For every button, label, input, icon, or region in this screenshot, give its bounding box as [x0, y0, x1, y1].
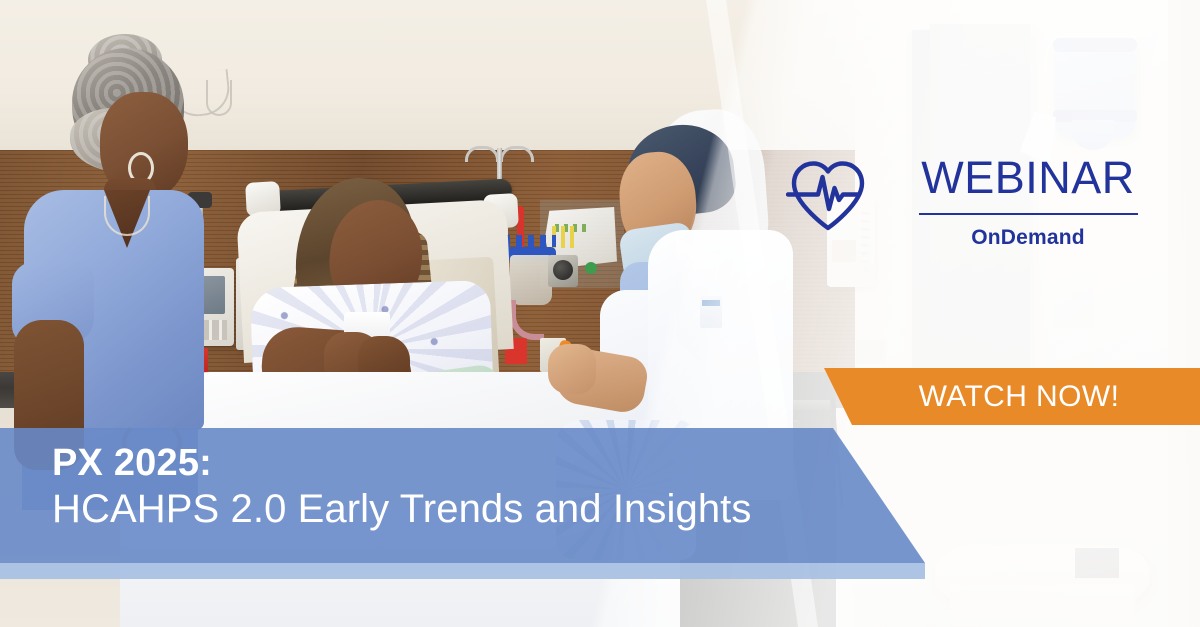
watch-now-button[interactable]: WATCH NOW! [816, 368, 1200, 425]
title-line-2: HCAHPS 2.0 Early Trends and Insights [52, 485, 882, 534]
webinar-promo-banner: WEBINAR OnDemand WATCH NOW! PX 2025: HCA… [0, 0, 1200, 627]
iv-pole-hook-right [500, 146, 534, 162]
wall-device-window [832, 240, 856, 262]
regulator-dial [553, 260, 573, 280]
waste-bin-body [950, 585, 1135, 627]
wall-outlet-plate-2 [856, 340, 886, 364]
wall-wire-hook-2 [206, 80, 232, 116]
heart-pulse-icon [786, 156, 870, 234]
clinician-hand [548, 344, 596, 394]
wall-sign-plate [1075, 548, 1119, 578]
title-banner-accent-strip [0, 563, 925, 579]
wall-outlet-plate [1054, 287, 1094, 327]
oxygen-knob [585, 262, 597, 274]
webinar-subtitle: OnDemand [900, 226, 1156, 250]
title-line-1: PX 2025: [52, 441, 882, 485]
webinar-title: WEBINAR [900, 155, 1156, 200]
watch-now-label: WATCH NOW! [816, 368, 1200, 425]
ppe-dispenser-cap [1053, 38, 1137, 52]
canister-pegs [504, 235, 556, 247]
clinician-badge-strip [702, 300, 720, 306]
iv-pole-hook-left [465, 146, 499, 162]
page-title: PX 2025: HCAHPS 2.0 Early Trends and Ins… [52, 441, 882, 534]
right-wall-edge [1168, 0, 1200, 627]
webinar-badge: WEBINAR OnDemand [900, 155, 1156, 250]
suction-canister [510, 255, 552, 305]
webinar-divider [919, 213, 1138, 215]
